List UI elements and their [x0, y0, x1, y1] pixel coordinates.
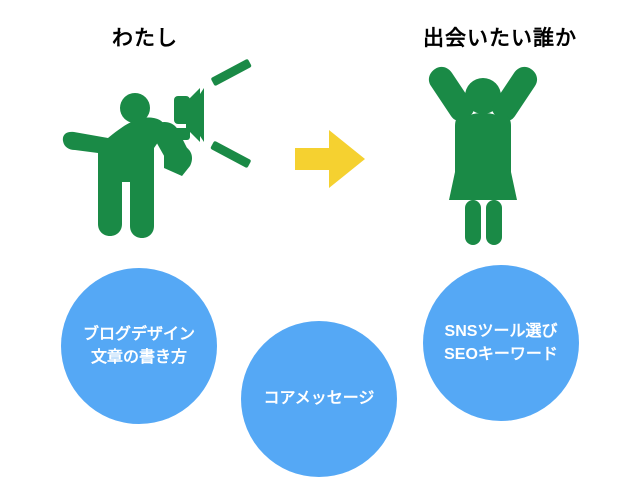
circle-audience-line-2: SEOキーワード [444, 343, 558, 366]
circle-core-line-1: コアメッセージ [264, 387, 375, 410]
person-with-megaphone-icon [60, 58, 270, 243]
slide-canvas: わたし 出会いたい誰か [0, 0, 640, 480]
circle-audience-topics[interactable]: SNSツール選び SEOキーワード [423, 265, 579, 421]
circle-self-line-1: ブログデザイン [83, 323, 195, 346]
circle-core-message[interactable]: コアメッセージ [241, 321, 397, 477]
right-arrow-icon [295, 128, 367, 190]
heading-right: 出会いたい誰か [360, 28, 640, 49]
circle-self-line-2: 文章の書き方 [91, 346, 187, 369]
person-arms-raised-icon [425, 60, 560, 245]
circle-self-topics[interactable]: ブログデザイン 文章の書き方 [61, 268, 217, 424]
circle-audience-line-1: SNSツール選び [445, 320, 558, 343]
heading-left: わたし [0, 28, 290, 49]
